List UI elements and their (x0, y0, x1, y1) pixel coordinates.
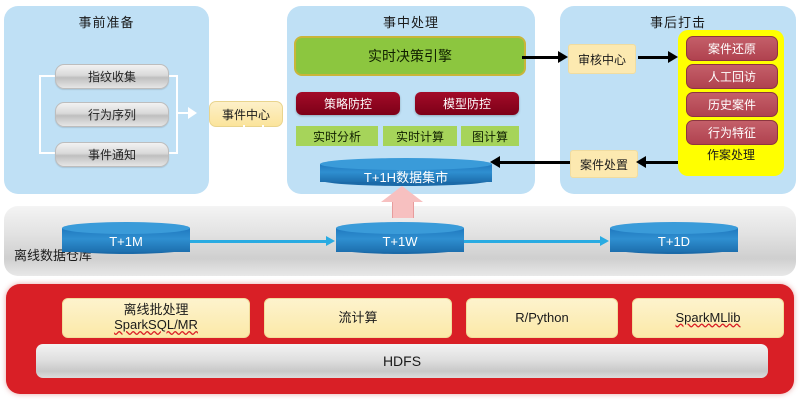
week-to-day-arrow-icon (600, 236, 609, 246)
warehouse-cylinder-day[interactable]: T+1D (610, 222, 738, 260)
audit-to-case-arrow-icon (668, 51, 678, 63)
model-control-label: 模型防控 (443, 95, 491, 112)
hdfs-storage-label: HDFS (383, 353, 421, 369)
model-control-box[interactable]: 模型防控 (415, 92, 519, 115)
warehouse-cylinder-week-top (336, 222, 464, 234)
pre-item-fingerprint[interactable]: 指纹收集 (55, 64, 169, 89)
event-center-elbow-vertical (243, 125, 245, 173)
month-to-week-arrow-line (190, 240, 330, 243)
pre-item-event-notify-label: 事件通知 (88, 146, 136, 163)
strategy-control-box[interactable]: 策略防控 (296, 92, 400, 115)
warehouse-cylinder-week[interactable]: T+1W (336, 222, 464, 260)
realtime-compute-box[interactable]: 实时计算 (383, 126, 457, 146)
tool-offline-batch-line1: 离线批处理 (123, 303, 188, 318)
pre-item-behavior-sequence-label: 行为序列 (88, 106, 136, 123)
realtime-decision-engine-box[interactable]: 实时决策引擎 (294, 36, 526, 76)
audit-center-label: 审核中心 (578, 51, 626, 68)
pre-to-event-center-arrow-icon (188, 107, 197, 119)
strategy-control-label: 策略防控 (324, 95, 372, 112)
case-handling-caption: 作案处理 (678, 146, 784, 163)
warehouse-to-mart-arrow-icon (381, 186, 423, 216)
realtime-compute-label: 实时计算 (396, 128, 444, 145)
month-to-week-arrow-icon (326, 236, 335, 246)
historical-case-label: 历史案件 (708, 96, 756, 113)
behavior-feature-box[interactable]: 行为特征 (686, 120, 778, 145)
pre-item-fingerprint-label: 指纹收集 (88, 68, 136, 85)
pre-bracket-right-vertical (176, 75, 178, 154)
event-center-label: 事件中心 (222, 106, 270, 123)
bigdata-platform-frame: 离线批处理 SparkSQL/MR 流计算 R/Python SparkMLli… (6, 284, 794, 394)
engine-to-audit-arrow-icon (558, 51, 568, 63)
manual-followup-box[interactable]: 人工回访 (686, 64, 778, 89)
historical-case-box[interactable]: 历史案件 (686, 92, 778, 117)
tool-spark-mllib[interactable]: SparkMLlib (632, 298, 784, 338)
dispose-to-mart-arrow-line (494, 161, 570, 164)
realtime-decision-engine-label: 实时决策引擎 (368, 46, 452, 66)
graph-compute-box[interactable]: 图计算 (461, 126, 519, 146)
realtime-analysis-box[interactable]: 实时分析 (296, 126, 378, 146)
tool-stream-compute-label: 流计算 (338, 311, 377, 326)
warehouse-to-mart-arrow-head (381, 186, 423, 202)
event-center-elbow-secondary-vertical (262, 125, 264, 163)
pre-bracket-stem (176, 112, 188, 114)
warehouse-cylinder-week-label: T+1W (336, 234, 464, 249)
behavior-feature-label: 行为特征 (708, 124, 756, 141)
tool-offline-batch[interactable]: 离线批处理 SparkSQL/MR (62, 298, 250, 338)
case-dispose-box[interactable]: 案件处置 (570, 150, 638, 178)
data-mart-cylinder[interactable]: T+1H数据集市 (320, 158, 492, 188)
pre-bracket-left-vertical (39, 75, 41, 154)
realtime-analysis-label: 实时分析 (313, 128, 361, 145)
pre-item-behavior-sequence[interactable]: 行为序列 (55, 102, 169, 127)
architecture-diagram: 事前准备 指纹收集 行为序列 事件通知 事件中心 事中处理 实时决策引擎 策略防… (0, 0, 800, 400)
case-handling-block: 案件还原 人工回访 历史案件 行为特征 作案处理 (678, 30, 784, 176)
panel-pre-event-title: 事前准备 (4, 12, 209, 31)
manual-followup-label: 人工回访 (708, 68, 756, 85)
warehouse-cylinder-day-top (610, 222, 738, 234)
case-to-dispose-arrow-icon (636, 156, 646, 168)
hdfs-storage-bar[interactable]: HDFS (36, 344, 768, 378)
case-dispose-label: 案件处置 (580, 156, 628, 173)
data-mart-label: T+1H数据集市 (320, 167, 492, 186)
panel-during-event-title: 事中处理 (287, 12, 535, 31)
graph-compute-label: 图计算 (472, 128, 508, 145)
tool-offline-batch-line2: SparkSQL/MR (114, 318, 198, 333)
audit-center-box[interactable]: 审核中心 (568, 44, 636, 74)
event-center-box[interactable]: 事件中心 (209, 101, 283, 127)
warehouse-cylinder-month-label: T+1M (62, 234, 190, 249)
tool-spark-mllib-label: SparkMLlib (675, 311, 740, 326)
tool-stream-compute[interactable]: 流计算 (264, 298, 452, 338)
warehouse-cylinder-month-top (62, 222, 190, 234)
tool-r-python-label: R/Python (515, 311, 568, 326)
tool-r-python[interactable]: R/Python (466, 298, 618, 338)
warehouse-cylinder-day-label: T+1D (610, 234, 738, 249)
week-to-day-arrow-line (464, 240, 604, 243)
warehouse-cylinder-month[interactable]: T+1M (62, 222, 190, 260)
case-restore-box[interactable]: 案件还原 (686, 36, 778, 61)
panel-post-event-title: 事后打击 (560, 12, 796, 31)
case-restore-label: 案件还原 (708, 40, 756, 57)
dispose-to-mart-arrow-icon (490, 156, 500, 168)
pre-item-event-notify[interactable]: 事件通知 (55, 142, 169, 167)
